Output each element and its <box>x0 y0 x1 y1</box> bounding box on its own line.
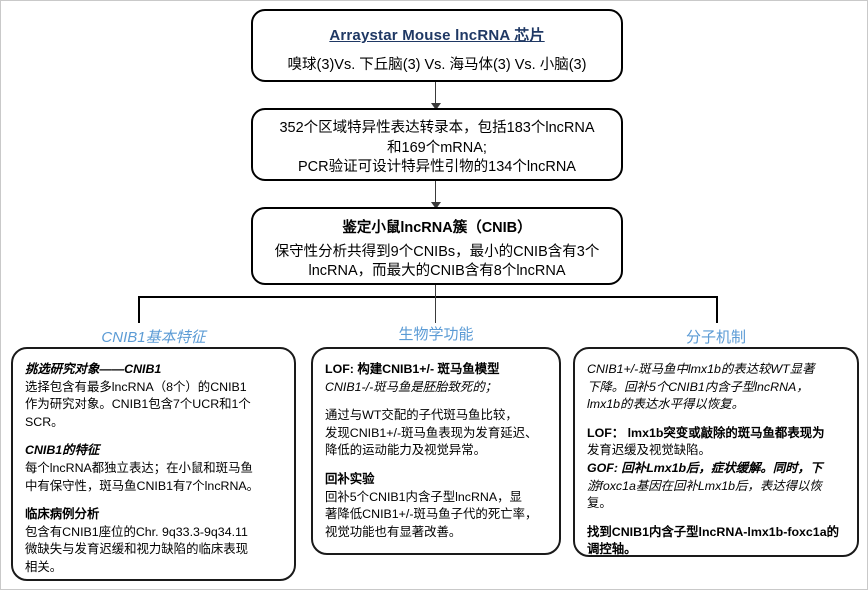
panel1-block1-line2: 作为研究对象。CNIB1包含7个UCR和1个 <box>25 396 284 414</box>
panel2-block2-line1: 通过与WT交配的子代斑马鱼比较， <box>325 407 549 425</box>
panel-biological-function: LOF: 构建CNIB1+/- 斑马鱼模型 CNIB1-/-斑马鱼是胚胎致死的；… <box>311 347 561 555</box>
panel1-block2-heading: CNIB1的特征 <box>25 442 284 460</box>
node-microarray-line-1: 嗅球(3)Vs. 下丘脑(3) Vs. 海马体(3) Vs. 小脑(3) <box>253 56 621 76</box>
column-header-biological-function: 生物学功能 <box>311 323 561 344</box>
panel2-block3-line3: 视觉功能也有显著改善。 <box>325 524 549 542</box>
branch-drop-right <box>716 296 718 323</box>
panel2-block3-line2: 著降低CNIB1+/-斑马鱼子代的死亡率， <box>325 506 549 524</box>
panel1-block2-line1: 每个lncRNA都独立表达；在小鼠和斑马鱼 <box>25 460 284 478</box>
node-transcripts: 352个区域特异性表达转录本，包括183个lncRNA 和169个mRNA; P… <box>251 108 623 181</box>
panel3-block2-line4: 复。 <box>587 495 847 513</box>
panel1-block3-line2: 微缺失与发育迟缓和视力缺陷的临床表现 <box>25 541 284 559</box>
node-cnib-title: 鉴定小鼠lncRNA簇（CNIB） <box>253 219 621 239</box>
panel3-block3-heading: 找到CNIB1内含子型lncRNA-lmx1b-foxc1a的调控轴。 <box>587 524 847 557</box>
panel3-block2-line2: GOF: 回补Lmx1b后，症状缓解。同时，下 <box>587 460 847 478</box>
panel1-block3-heading: 临床病例分析 <box>25 506 284 524</box>
node-cnib-line-1: 保守性分析共得到9个CNIBs，最小的CNIB含有3个 <box>253 243 621 263</box>
panel2-block1-line1: CNIB1-/-斑马鱼是胚胎致死的； <box>325 379 549 397</box>
panel3-block1-line3: lmx1b的表达水平得以恢复。 <box>587 396 847 414</box>
panel3-block2-line1: 发育迟缓及视觉缺陷。 <box>587 442 847 460</box>
panel3-block1-line1: CNIB1+/-斑马鱼中lmx1b的表达较WT显著 <box>587 361 847 379</box>
panel-molecular-mechanism: CNIB1+/-斑马鱼中lmx1b的表达较WT显著 下降。回补5个CNIB1内含… <box>573 347 859 557</box>
branch-horizontal-bar <box>138 296 718 298</box>
panel3-block2-line3: 游foxc1a基因在回补Lmx1b后，表达得以恢 <box>587 478 847 496</box>
panel2-block2-line2: 发现CNIB1+/-斑马鱼表现为发育延迟、 <box>325 425 549 443</box>
panel2-block1-heading: LOF: 构建CNIB1+/- 斑马鱼模型 <box>325 361 549 379</box>
branch-drop-left <box>138 296 140 323</box>
node-microarray: Arraystar Mouse lncRNA 芯片 嗅球(3)Vs. 下丘脑(3… <box>251 9 623 82</box>
node-microarray-title: Arraystar Mouse lncRNA 芯片 <box>253 24 621 45</box>
panel3-block2-heading: LOF： lmx1b突变或敲除的斑马鱼都表现为 <box>587 425 847 443</box>
node-cnib-line-2: lncRNA，而最大的CNIB含有8个lncRNA <box>253 262 621 282</box>
node-cnib: 鉴定小鼠lncRNA簇（CNIB） 保守性分析共得到9个CNIBs，最小的CNI… <box>251 207 623 285</box>
node-transcripts-line-2: 和169个mRNA; <box>253 139 621 159</box>
panel-basic-features: 挑选研究对象——CNIB1 选择包含有最多lncRNA（8个）的CNIB1 作为… <box>11 347 296 581</box>
panel2-block3-line1: 回补5个CNIB1内含子型lncRNA，显 <box>325 489 549 507</box>
panel2-block2-line3: 降低的运动能力及视觉异常。 <box>325 442 549 460</box>
node-transcripts-line-1: 352个区域特异性表达转录本，包括183个lncRNA <box>253 119 621 139</box>
branch-drop-center <box>435 296 436 323</box>
flowchart-canvas: Arraystar Mouse lncRNA 芯片 嗅球(3)Vs. 下丘脑(3… <box>0 0 868 590</box>
column-header-molecular-mechanism: 分子机制 <box>573 326 859 347</box>
column-header-basic-features: CNIB1基本特征 <box>11 326 296 347</box>
panel1-block3-line3: 相关。 <box>25 559 284 577</box>
panel1-block1-line1: 选择包含有最多lncRNA（8个）的CNIB1 <box>25 379 284 397</box>
panel1-block1-heading: 挑选研究对象——CNIB1 <box>25 361 284 379</box>
panel1-block1-line3: SCR。 <box>25 414 284 432</box>
panel1-block3-line1: 包含有CNIB1座位的Chr. 9q33.3-9q34.11 <box>25 524 284 542</box>
node-transcripts-line-3: PCR验证可设计特异性引物的134个lncRNA <box>253 158 621 178</box>
panel2-block3-heading: 回补实验 <box>325 471 549 489</box>
panel1-block2-line2: 中有保守性，斑马鱼CNIB1有7个lncRNA。 <box>25 478 284 496</box>
panel3-block1-line2: 下降。回补5个CNIB1内含子型lncRNA， <box>587 379 847 397</box>
